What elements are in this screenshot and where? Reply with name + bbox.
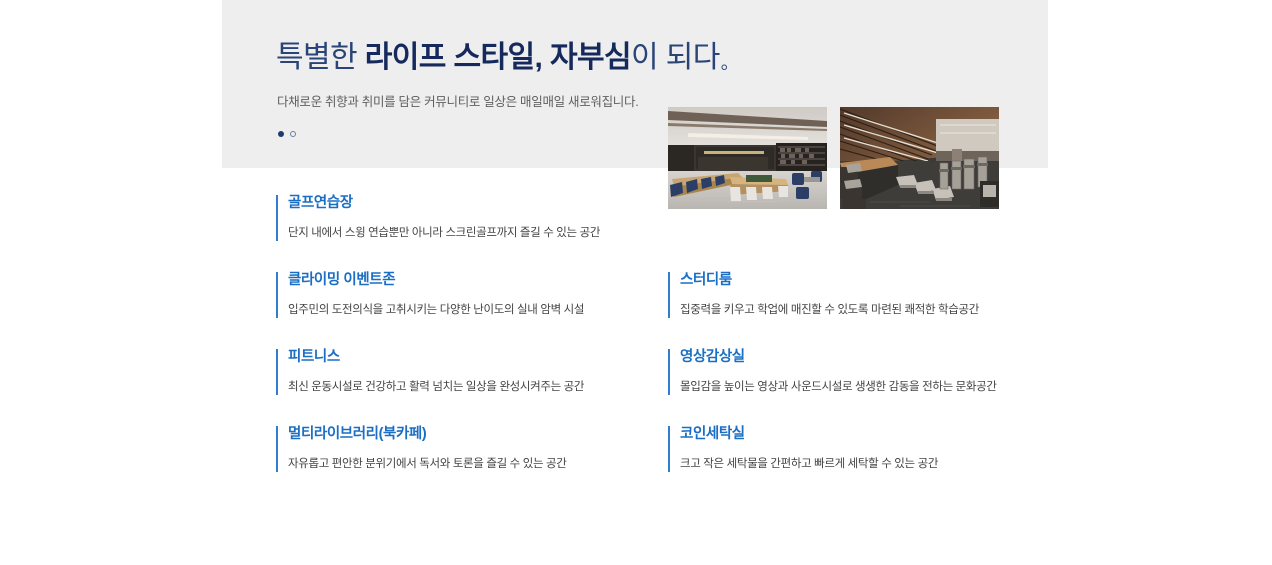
- amenity-item-coin-laundry[interactable]: 코인세탁실 크고 작은 세탁물을 간편하고 빠르게 세탁할 수 있는 공간: [668, 424, 1016, 472]
- hero-title-tail: 이 되다: [631, 41, 720, 74]
- hero-title-strong: 라이프 스타일, 자부심: [365, 41, 631, 74]
- amenity-description: 몰입감을 높이는 영상과 사운드시설로 생생한 감동을 전하는 문화공간: [680, 379, 1016, 395]
- hero-image-pair: [668, 107, 999, 209]
- hero-title-light: 특별한: [276, 41, 365, 74]
- amenity-item-screening-room[interactable]: 영상감상실 몰입감을 높이는 영상과 사운드시설로 생생한 감동을 전하는 문화…: [668, 347, 1016, 395]
- carousel-dot-1[interactable]: [278, 131, 284, 137]
- hero-subtitle: 다채로운 취향과 취미를 담은 커뮤니티로 일상은 매일매일 새로워집니다.: [277, 93, 638, 111]
- carousel-pagination[interactable]: [278, 131, 296, 137]
- amenity-description: 자유롭고 편안한 분위기에서 독서와 토론을 즐길 수 있는 공간: [288, 456, 668, 472]
- carousel-dot-2[interactable]: [290, 131, 296, 137]
- amenity-item-climbing[interactable]: 클라이밍 이벤트존 입주민의 도전의식을 고취시키는 다양한 난이도의 실내 암…: [276, 270, 668, 318]
- amenity-item-studyroom[interactable]: 스터디룸 집중력을 키우고 학업에 매진할 수 있도록 마련된 쾌적한 학습공간: [668, 270, 1016, 318]
- amenity-title: 피트니스: [288, 347, 668, 367]
- amenity-item-golf[interactable]: 골프연습장 단지 내에서 스윙 연습뿐만 아니라 스크린골프까지 즐길 수 있는…: [276, 193, 668, 241]
- amenity-description: 단지 내에서 스윙 연습뿐만 아니라 스크린골프까지 즐길 수 있는 공간: [288, 225, 668, 241]
- amenity-item-fitness[interactable]: 피트니스 최신 운동시설로 건강하고 활력 넘치는 일상을 완성시켜주는 공간: [276, 347, 668, 395]
- library-cafe-image[interactable]: [668, 107, 827, 209]
- amenity-description: 크고 작은 세탁물을 간편하고 빠르게 세탁할 수 있는 공간: [680, 456, 1016, 472]
- amenity-item-multi-library[interactable]: 멀티라이브러리(북카페) 자유롭고 편안한 분위기에서 독서와 토론을 즐길 수…: [276, 424, 668, 472]
- amenity-description: 집중력을 키우고 학업에 매진할 수 있도록 마련된 쾌적한 학습공간: [680, 302, 1016, 318]
- amenity-title: 클라이밍 이벤트존: [288, 270, 668, 290]
- fitness-center-image[interactable]: [840, 107, 999, 209]
- amenity-description: 입주민의 도전의식을 고취시키는 다양한 난이도의 실내 암벽 시설: [288, 302, 668, 318]
- amenity-title: 영상감상실: [680, 347, 1016, 367]
- hero-title-period: 。: [721, 53, 738, 73]
- amenity-title: 스터디룸: [680, 270, 1016, 290]
- amenity-description: 최신 운동시설로 건강하고 활력 넘치는 일상을 완성시켜주는 공간: [288, 379, 668, 395]
- amenity-title: 골프연습장: [288, 193, 668, 213]
- amenity-title: 코인세탁실: [680, 424, 1016, 444]
- fitness-center-illustration: [840, 107, 999, 209]
- amenity-title: 멀티라이브러리(북카페): [288, 424, 668, 444]
- community-amenities-page: 특별한 라이프 스타일, 자부심이 되다。 다채로운 취향과 취미를 담은 커뮤…: [0, 0, 1272, 565]
- hero-title: 특별한 라이프 스타일, 자부심이 되다。: [276, 36, 738, 83]
- library-cafe-illustration: [668, 107, 827, 209]
